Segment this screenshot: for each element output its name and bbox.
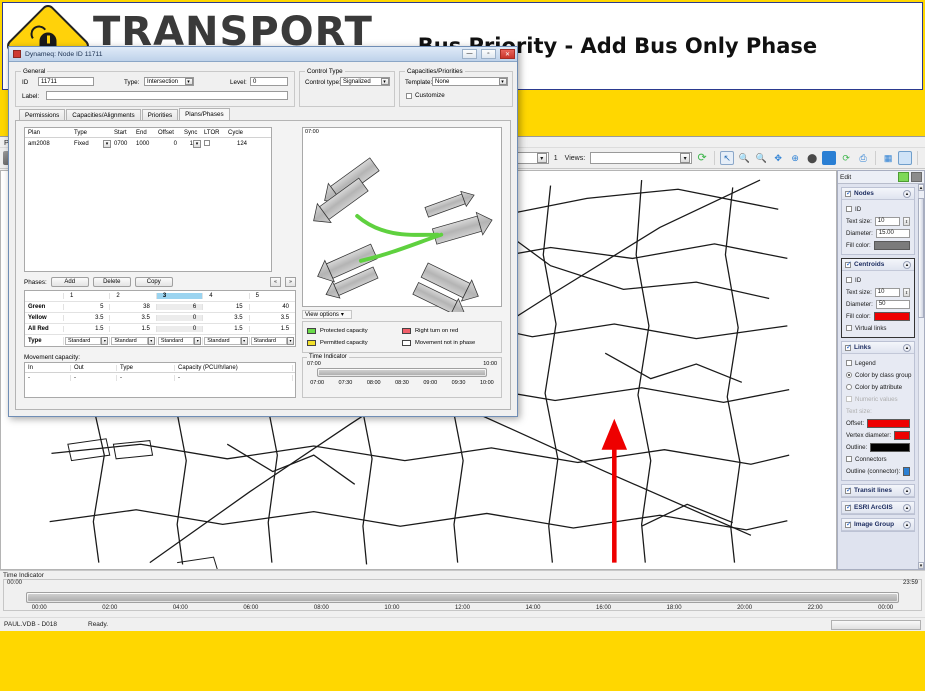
plan-sync-value: 1 xyxy=(181,141,193,147)
field-row: Color by class group xyxy=(846,369,910,381)
phase-row-green: Green53861540 xyxy=(25,302,295,313)
checkbox-id[interactable] xyxy=(846,277,852,283)
time-tick: 16:00 xyxy=(568,605,639,611)
color-swatch[interactable] xyxy=(870,443,910,452)
phase-row-yellow: Yellow3.53.503.53.5 xyxy=(25,313,295,324)
time-tick: 02:00 xyxy=(75,605,146,611)
field-label: Diameter: xyxy=(846,230,873,237)
field-label: Fill color: xyxy=(846,313,871,320)
layers-sidebar: Edit Nodes▴IDText size:10⇕Diameter:15.00… xyxy=(837,170,925,570)
movement-row[interactable]: ---- xyxy=(25,373,295,383)
panel-title: ESRI ArcGIS xyxy=(854,504,900,511)
phases-label: Phases: xyxy=(24,279,47,286)
phase-grid[interactable]: 12345Green53861540Yellow3.53.503.53.5All… xyxy=(24,290,296,347)
checkbox-virtual-links[interactable] xyxy=(846,325,852,331)
panel-header[interactable]: Links▴ xyxy=(842,342,914,354)
color-swatch[interactable] xyxy=(894,431,910,440)
layer-visibility-checkbox[interactable] xyxy=(845,262,851,268)
spinner-icon[interactable]: ⇕ xyxy=(903,288,910,297)
checkbox-legend[interactable] xyxy=(846,360,852,366)
select-pointer-icon[interactable]: ↖ xyxy=(720,151,734,165)
template-label: Template: xyxy=(405,79,432,86)
level-label: Level: xyxy=(230,79,247,86)
time-tick: 10:00 xyxy=(357,605,428,611)
phase-cell[interactable]: 0 xyxy=(156,315,202,321)
field-label: Text size: xyxy=(846,408,872,415)
phase-row-label: Type xyxy=(25,338,63,344)
chevron-down-icon: ▾ xyxy=(341,311,344,318)
time-tick: 14:00 xyxy=(498,605,569,611)
field-row: Outline: xyxy=(846,441,910,453)
print-icon[interactable]: ⎙ xyxy=(856,151,870,165)
control-type-group-title: Control Type xyxy=(305,68,345,75)
legend-swatch xyxy=(307,328,316,334)
views-label: Views: xyxy=(565,155,586,162)
phase-grid-header: 12345 xyxy=(25,291,295,302)
radio-color-by-class-group[interactable] xyxy=(846,372,852,378)
color-swatch[interactable] xyxy=(903,467,910,476)
field-label: Offset: xyxy=(846,420,864,427)
sync-icon[interactable]: ⟳ xyxy=(839,151,853,165)
label-field[interactable] xyxy=(46,91,288,100)
time-indicator-bar: Time Indicator 00:00 23:59 00:0002:0004:… xyxy=(0,570,925,631)
phase-cell[interactable]: 3.5 xyxy=(63,315,109,321)
scrollbar-thumb[interactable] xyxy=(918,198,924,318)
field-label: Vertex diameter: xyxy=(846,432,891,439)
time-indicator-start: 00:00 xyxy=(7,580,22,586)
type-label: Type: xyxy=(124,79,139,86)
phase-cell[interactable]: 0 xyxy=(156,326,202,332)
field-row: Fill color: xyxy=(846,239,910,251)
phase-cell[interactable]: 3.5 xyxy=(109,315,155,321)
movement-capacity-table[interactable]: InOutTypeCapacity (PCU/h/lane) ---- xyxy=(24,362,296,398)
field-row: Color by attribute xyxy=(846,381,910,393)
minimize-button[interactable]: — xyxy=(462,49,477,59)
phase-cell[interactable]: 3.5 xyxy=(202,315,248,321)
field-label: Numeric values xyxy=(855,396,898,403)
node-properties-dialog[interactable]: Dynameq: Node ID 11711 — ▫ ✕ General ID … xyxy=(8,46,518,417)
movement-cell: - xyxy=(175,375,293,381)
dialog-title: Dynameq: Node ID 11711 xyxy=(25,51,458,58)
chevron-down-icon: ▾ xyxy=(101,337,108,345)
spinner-icon[interactable]: ⇕ xyxy=(903,217,910,226)
plan-table[interactable]: PlanTypeStartEndOffsetSyncLTORCycle am20… xyxy=(24,127,272,272)
phase-type-select[interactable]: Standard▾ xyxy=(156,337,202,345)
dialog-title-bar[interactable]: Dynameq: Node ID 11711 — ▫ ✕ xyxy=(9,47,517,62)
panel-title: Image Group xyxy=(854,521,900,528)
field-row: Text size: xyxy=(846,405,910,417)
plan-cell: am2008 xyxy=(25,141,71,147)
plan-cell xyxy=(201,140,225,148)
next-phase-button[interactable]: » xyxy=(285,277,296,287)
color-swatch[interactable] xyxy=(874,241,910,250)
layer-visibility-checkbox[interactable] xyxy=(845,345,851,351)
dialog-time-end: 10:00 xyxy=(483,361,497,367)
phase-row-type: TypeStandard▾Standard▾Standard▾Standard▾… xyxy=(25,335,295,346)
panel-header[interactable]: Transit lines▴ xyxy=(842,485,914,497)
time-tick: 00:00 xyxy=(4,605,75,611)
movement-col-header: Type xyxy=(117,365,175,371)
field-row: ID xyxy=(846,274,910,286)
customize-label: Customize xyxy=(415,92,445,99)
plan-table-body: am2008Fixed▾0700100001▾124 xyxy=(25,138,271,149)
sidebar-header: Edit xyxy=(838,171,924,184)
panel-header[interactable]: Centroids▴ xyxy=(842,259,914,271)
legend-swatch xyxy=(402,328,411,334)
field-row: Connectors xyxy=(846,453,910,465)
field-row: Text size:10⇕ xyxy=(846,286,910,298)
type-select[interactable]: Intersection ▾ xyxy=(144,77,194,86)
legend-swatch xyxy=(307,340,316,346)
layer-panel-image-group[interactable]: Image Group▴ xyxy=(841,518,915,532)
layer-panel-centroids[interactable]: Centroids▴IDText size:10⇕Diameter:50Fill… xyxy=(841,258,915,338)
level-field[interactable]: 0 xyxy=(250,77,288,86)
movement-cell: - xyxy=(25,375,71,381)
time-indicator-title: Time Indicator xyxy=(0,571,925,579)
phase-row-label: Green xyxy=(25,304,63,310)
phase-column-header-4[interactable]: 4 xyxy=(202,293,248,299)
field-row: Outline (connector): xyxy=(846,465,910,477)
status-project: PAUL.VDB - D018 xyxy=(0,621,88,628)
toolbar-divider xyxy=(714,151,715,165)
field-label: Virtual links xyxy=(855,325,887,332)
legend-item: Protected capacity xyxy=(307,325,402,337)
phase-type-select[interactable]: Standard▾ xyxy=(202,337,248,345)
apply-icon[interactable] xyxy=(898,172,909,182)
zoom-out-icon[interactable]: 🔍 xyxy=(754,151,768,165)
scroll-up-icon[interactable]: ▴ xyxy=(918,184,924,191)
layer-visibility-checkbox[interactable] xyxy=(845,522,851,528)
plans-phases-panel: PlanTypeStartEndOffsetSyncLTORCycle am20… xyxy=(15,120,511,410)
zoom-extents-icon[interactable]: ⊕ xyxy=(788,151,802,165)
value-input[interactable]: 15.00 xyxy=(876,229,910,238)
layer-panel-links[interactable]: Links▴LegendColor by class groupColor by… xyxy=(841,341,915,481)
status-progress xyxy=(831,620,921,630)
field-row: Legend xyxy=(846,357,910,369)
refresh-icon[interactable]: ⟳ xyxy=(695,151,709,165)
layer-visibility-checkbox[interactable] xyxy=(845,191,851,197)
chevron-down-icon: ▾ xyxy=(185,78,193,86)
chevron-down-icon: ▾ xyxy=(194,337,201,345)
plan-cell: 1000 xyxy=(133,141,155,147)
plan-ltor-checkbox[interactable] xyxy=(204,140,210,146)
plan-sync-select[interactable]: 1▾ xyxy=(181,140,201,148)
phase-type-value: Standard xyxy=(204,337,240,345)
field-row: Offset: xyxy=(846,417,910,429)
field-label: Fill color: xyxy=(846,242,871,249)
phase-cell[interactable]: 1.5 xyxy=(202,326,248,332)
field-label: Color by class group xyxy=(855,372,911,379)
field-row: Virtual links xyxy=(846,322,910,334)
pan-move-icon[interactable]: ✥ xyxy=(771,151,785,165)
status-bar: PAUL.VDB - D018 Ready. xyxy=(0,617,925,631)
panel-title: Centroids xyxy=(854,261,900,268)
field-label: Connectors xyxy=(855,456,887,463)
panel-title: Transit lines xyxy=(854,487,900,494)
field-row: Diameter:15.00 xyxy=(846,227,910,239)
view-options-dropdown[interactable]: View options ▾ xyxy=(302,310,352,319)
copy-phase-button[interactable]: Copy xyxy=(135,277,173,287)
checkbox-id[interactable] xyxy=(846,206,852,212)
control-type-value: Signalized xyxy=(343,79,371,85)
phase-row-label: Yellow xyxy=(25,315,63,321)
movement-col-header: Out xyxy=(71,365,117,371)
sidebar-scrollbar[interactable]: ▴ ▾ xyxy=(918,184,924,569)
field-label: Legend xyxy=(855,360,876,367)
phase-column-header-5[interactable]: 5 xyxy=(249,293,295,299)
phase-type-value: Standard xyxy=(158,337,194,345)
template-select[interactable]: None ▾ xyxy=(432,77,508,86)
dialog-time-tick: 07:30 xyxy=(331,380,359,386)
add-phase-button[interactable]: Add xyxy=(51,277,89,287)
chevron-down-icon: ▾ xyxy=(537,153,547,163)
dialog-time-ticks: 07:0007:3008:0008:3009:0009:3010:00 xyxy=(303,380,501,386)
close-button[interactable]: ✕ xyxy=(500,49,515,59)
phase-cell[interactable]: 1.5 xyxy=(63,326,109,332)
phase-cell[interactable]: 40 xyxy=(249,304,295,310)
legend-label: Protected capacity xyxy=(320,328,368,334)
collapse-toggle-icon[interactable]: ▴ xyxy=(903,487,911,495)
plan-col-header: End xyxy=(133,130,155,136)
layer-visibility-checkbox[interactable] xyxy=(845,488,851,494)
control-type-group: Control Type Control type: Signalized ▾ xyxy=(299,71,395,107)
field-row: Diameter:50 xyxy=(846,298,910,310)
status-message: Ready. xyxy=(88,621,831,628)
layer-panel-esri-arcgis[interactable]: ESRI ArcGIS▴ xyxy=(841,501,915,515)
plan-col-header: Offset xyxy=(155,130,181,136)
phase-type-value: Standard xyxy=(111,337,147,345)
phases-toolbar: Phases: Add Delete Copy « » xyxy=(24,277,296,287)
legend-item: Permitted capacity xyxy=(307,337,402,349)
movement-capacity-header: InOutTypeCapacity (PCU/h/lane) xyxy=(25,363,295,373)
sidebar-edit-label: Edit xyxy=(840,174,896,181)
layer-panel-nodes[interactable]: Nodes▴IDText size:10⇕Diameter:15.00Fill … xyxy=(841,187,915,255)
chevron-down-icon: ▾ xyxy=(499,78,507,86)
id-field[interactable]: 11711 xyxy=(38,77,94,86)
chart-icon[interactable]: ▦ xyxy=(881,151,895,165)
value-input[interactable]: 10 xyxy=(875,288,900,297)
phase-row-all-red: All Red1.51.501.51.5 xyxy=(25,324,295,335)
plan-col-header: Start xyxy=(111,130,133,136)
annotation-arrow xyxy=(602,419,628,563)
view-options-label: View options xyxy=(305,312,339,318)
phase-cell[interactable]: 1.5 xyxy=(109,326,155,332)
dialog-time-indicator-title: Time Indicator xyxy=(307,354,349,360)
dialog-time-tick: 08:00 xyxy=(360,380,388,386)
reset-icon[interactable] xyxy=(911,172,922,182)
plan-col-header: Cycle xyxy=(225,130,251,136)
plan-type-select[interactable]: Fixed▾ xyxy=(71,140,111,148)
time-indicator-end: 23:59 xyxy=(903,580,918,586)
panel-body: LegendColor by class groupColor by attri… xyxy=(842,354,914,480)
dialog-time-tick: 09:30 xyxy=(444,380,472,386)
panel-header[interactable]: Nodes▴ xyxy=(842,188,914,200)
filter-count: 1 xyxy=(554,155,558,162)
scroll-down-icon[interactable]: ▾ xyxy=(918,562,924,569)
phase-diagram-svg xyxy=(303,134,501,312)
field-label: ID xyxy=(855,206,861,213)
time-tick: 04:00 xyxy=(145,605,216,611)
time-indicator-box: 00:00 23:59 00:0002:0004:0006:0008:0010:… xyxy=(3,579,922,611)
collapse-toggle-icon[interactable]: ▴ xyxy=(903,190,911,198)
phase-column-header-2[interactable]: 2 xyxy=(109,293,155,299)
plan-col-header: Plan xyxy=(25,130,71,136)
chevron-down-icon: ▾ xyxy=(193,140,201,148)
legend-label: Movement not in phase xyxy=(415,340,475,346)
phase-cell[interactable]: 1.5 xyxy=(249,326,295,332)
panel-title: Nodes xyxy=(854,190,900,197)
panel-body: IDText size:10⇕Diameter:15.00Fill color: xyxy=(842,200,914,254)
collapse-toggle-icon[interactable]: ▴ xyxy=(903,344,911,352)
phase-cell[interactable]: 38 xyxy=(109,304,155,310)
time-indicator-ticks: 00:0002:0004:0006:0008:0010:0012:0014:00… xyxy=(4,605,921,611)
dialog-time-tick: 07:00 xyxy=(303,380,331,386)
time-tick: 18:00 xyxy=(639,605,710,611)
chevron-down-icon: ▾ xyxy=(148,337,155,345)
movement-col-header: In xyxy=(25,365,71,371)
maximize-button[interactable]: ▫ xyxy=(481,49,496,59)
general-group-title: General xyxy=(21,68,47,75)
chevron-down-icon: ▾ xyxy=(103,140,111,148)
id-label: ID xyxy=(22,79,28,86)
plan-type-value: Fixed xyxy=(71,141,103,147)
sidebar-panels: Nodes▴IDText size:10⇕Diameter:15.00Fill … xyxy=(838,184,918,569)
plan-cell: 0700 xyxy=(111,141,133,147)
value-input[interactable]: 50 xyxy=(876,300,910,309)
movement-cell: - xyxy=(71,375,117,381)
field-label: Outline (connector): xyxy=(846,468,900,475)
time-tick: 22:00 xyxy=(780,605,851,611)
collapse-toggle-icon[interactable]: ▴ xyxy=(903,261,911,269)
control-type-select[interactable]: Signalized ▾ xyxy=(340,77,390,86)
legend-item: Right turn on red xyxy=(402,325,497,337)
control-type-label: Control type: xyxy=(305,79,341,86)
dialog-time-tick: 10:00 xyxy=(473,380,501,386)
toolbar-divider xyxy=(917,151,918,165)
panel-header[interactable]: ESRI ArcGIS▴ xyxy=(842,502,914,514)
color-swatch[interactable] xyxy=(867,419,910,428)
general-group: General ID 11711 Type: Intersection ▾ Le… xyxy=(15,71,295,107)
capacities-group: Capacities/Priorities Template: None ▾ C… xyxy=(399,71,513,107)
color-swatch[interactable] xyxy=(874,312,910,321)
field-label: ID xyxy=(855,277,861,284)
value-input[interactable]: 10 xyxy=(875,217,900,226)
panel-title: Links xyxy=(854,344,900,351)
checkbox-connectors[interactable] xyxy=(846,456,852,462)
dialog-time-tick: 08:30 xyxy=(388,380,416,386)
field-row: ID xyxy=(846,203,910,215)
phase-column-header-3[interactable]: 3 xyxy=(156,293,202,299)
plan-col-header: LTOR xyxy=(201,130,225,136)
movement-capacity-label: Movement capacity: xyxy=(24,354,80,361)
plan-col-header: Sync xyxy=(181,130,201,136)
dialog-time-slider[interactable] xyxy=(317,368,487,377)
layer-panel-transit-lines[interactable]: Transit lines▴ xyxy=(841,484,915,498)
phase-cell[interactable]: 15 xyxy=(202,304,248,310)
plan-cell: 0 xyxy=(155,141,181,147)
chevron-down-icon: ▾ xyxy=(241,337,248,345)
checkbox-numeric-values xyxy=(846,396,852,402)
customize-checkbox[interactable] xyxy=(406,93,412,99)
plan-table-header: PlanTypeStartEndOffsetSyncLTORCycle xyxy=(25,128,271,138)
chevron-down-icon: ▾ xyxy=(381,78,389,86)
phase-type-select[interactable]: Standard▾ xyxy=(109,337,155,345)
phase-cell[interactable]: 5 xyxy=(63,304,109,310)
label-label: Label: xyxy=(22,93,39,100)
field-label: Color by attribute xyxy=(855,384,902,391)
app-icon xyxy=(13,50,21,58)
plan-col-header: Type xyxy=(71,130,111,136)
grid-view-icon[interactable] xyxy=(822,151,836,165)
time-indicator-slider[interactable] xyxy=(26,592,899,603)
field-row: Vertex diameter: xyxy=(846,429,910,441)
dialog-time-start: 07:00 xyxy=(307,361,321,367)
time-tick: 06:00 xyxy=(216,605,287,611)
zoom-in-icon[interactable]: 🔍 xyxy=(737,151,751,165)
time-indicator-range[interactable] xyxy=(28,594,897,601)
chevron-down-icon: ▾ xyxy=(680,153,690,163)
phase-diagram[interactable]: 07:00 xyxy=(302,127,502,307)
time-tick: 00:00 xyxy=(850,605,921,611)
circle-filled-icon[interactable]: ⬤ xyxy=(805,151,819,165)
phase-type-select[interactable]: Standard▾ xyxy=(249,337,295,345)
plan-row[interactable]: am2008Fixed▾0700100001▾124 xyxy=(25,138,271,149)
phase-type-select[interactable]: Standard▾ xyxy=(63,337,109,345)
field-row: Text size:10⇕ xyxy=(846,215,910,227)
phase-cell[interactable]: 3.5 xyxy=(249,315,295,321)
time-tick: 08:00 xyxy=(286,605,357,611)
field-label: Diameter: xyxy=(846,301,873,308)
radio-color-by-attribute[interactable] xyxy=(846,384,852,390)
phase-row-label: All Red xyxy=(25,326,63,332)
views-select[interactable]: ▾ xyxy=(590,152,692,164)
movement-cell: - xyxy=(117,375,175,381)
field-row: Numeric values xyxy=(846,393,910,405)
measure-icon[interactable] xyxy=(898,151,912,165)
field-label: Text size: xyxy=(846,218,872,225)
collapse-toggle-icon[interactable]: ▴ xyxy=(903,521,911,529)
panel-header[interactable]: Image Group▴ xyxy=(842,519,914,531)
chevron-down-icon: ▾ xyxy=(287,337,294,345)
phase-column-header-1[interactable]: 1 xyxy=(63,293,109,299)
movement-capacity-body: ---- xyxy=(25,373,295,383)
template-value: None xyxy=(435,79,449,85)
movement-col-header: Capacity (PCU/h/lane) xyxy=(175,365,293,371)
toolbar-divider xyxy=(875,151,876,165)
legend-label: Permitted capacity xyxy=(320,340,368,346)
time-tick: 12:00 xyxy=(427,605,498,611)
field-label: Outline: xyxy=(846,444,867,451)
delete-phase-button[interactable]: Delete xyxy=(93,277,131,287)
field-row: Fill color: xyxy=(846,310,910,322)
layer-visibility-checkbox[interactable] xyxy=(845,505,851,511)
panel-body: IDText size:10⇕Diameter:50Fill color:Vir… xyxy=(842,271,914,337)
phase-type-value: Standard xyxy=(65,337,101,345)
dialog-time-range[interactable] xyxy=(319,370,485,375)
dialog-time-tick: 09:00 xyxy=(416,380,444,386)
type-value: Intersection xyxy=(147,79,178,85)
phase-cell[interactable]: 6 xyxy=(156,304,202,310)
collapse-toggle-icon[interactable]: ▴ xyxy=(903,504,911,512)
field-label: Text size: xyxy=(846,289,872,296)
dialog-time-indicator: Time Indicator 07:00 10:00 07:0007:3008:… xyxy=(302,357,502,398)
plan-cell: 124 xyxy=(225,141,251,147)
time-tick: 20:00 xyxy=(709,605,780,611)
previous-phase-button[interactable]: « xyxy=(270,277,281,287)
legend-item: Movement not in phase xyxy=(402,337,497,349)
phase-type-value: Standard xyxy=(251,337,287,345)
diagram-legend: Protected capacityRight turn on redPermi… xyxy=(302,321,502,353)
